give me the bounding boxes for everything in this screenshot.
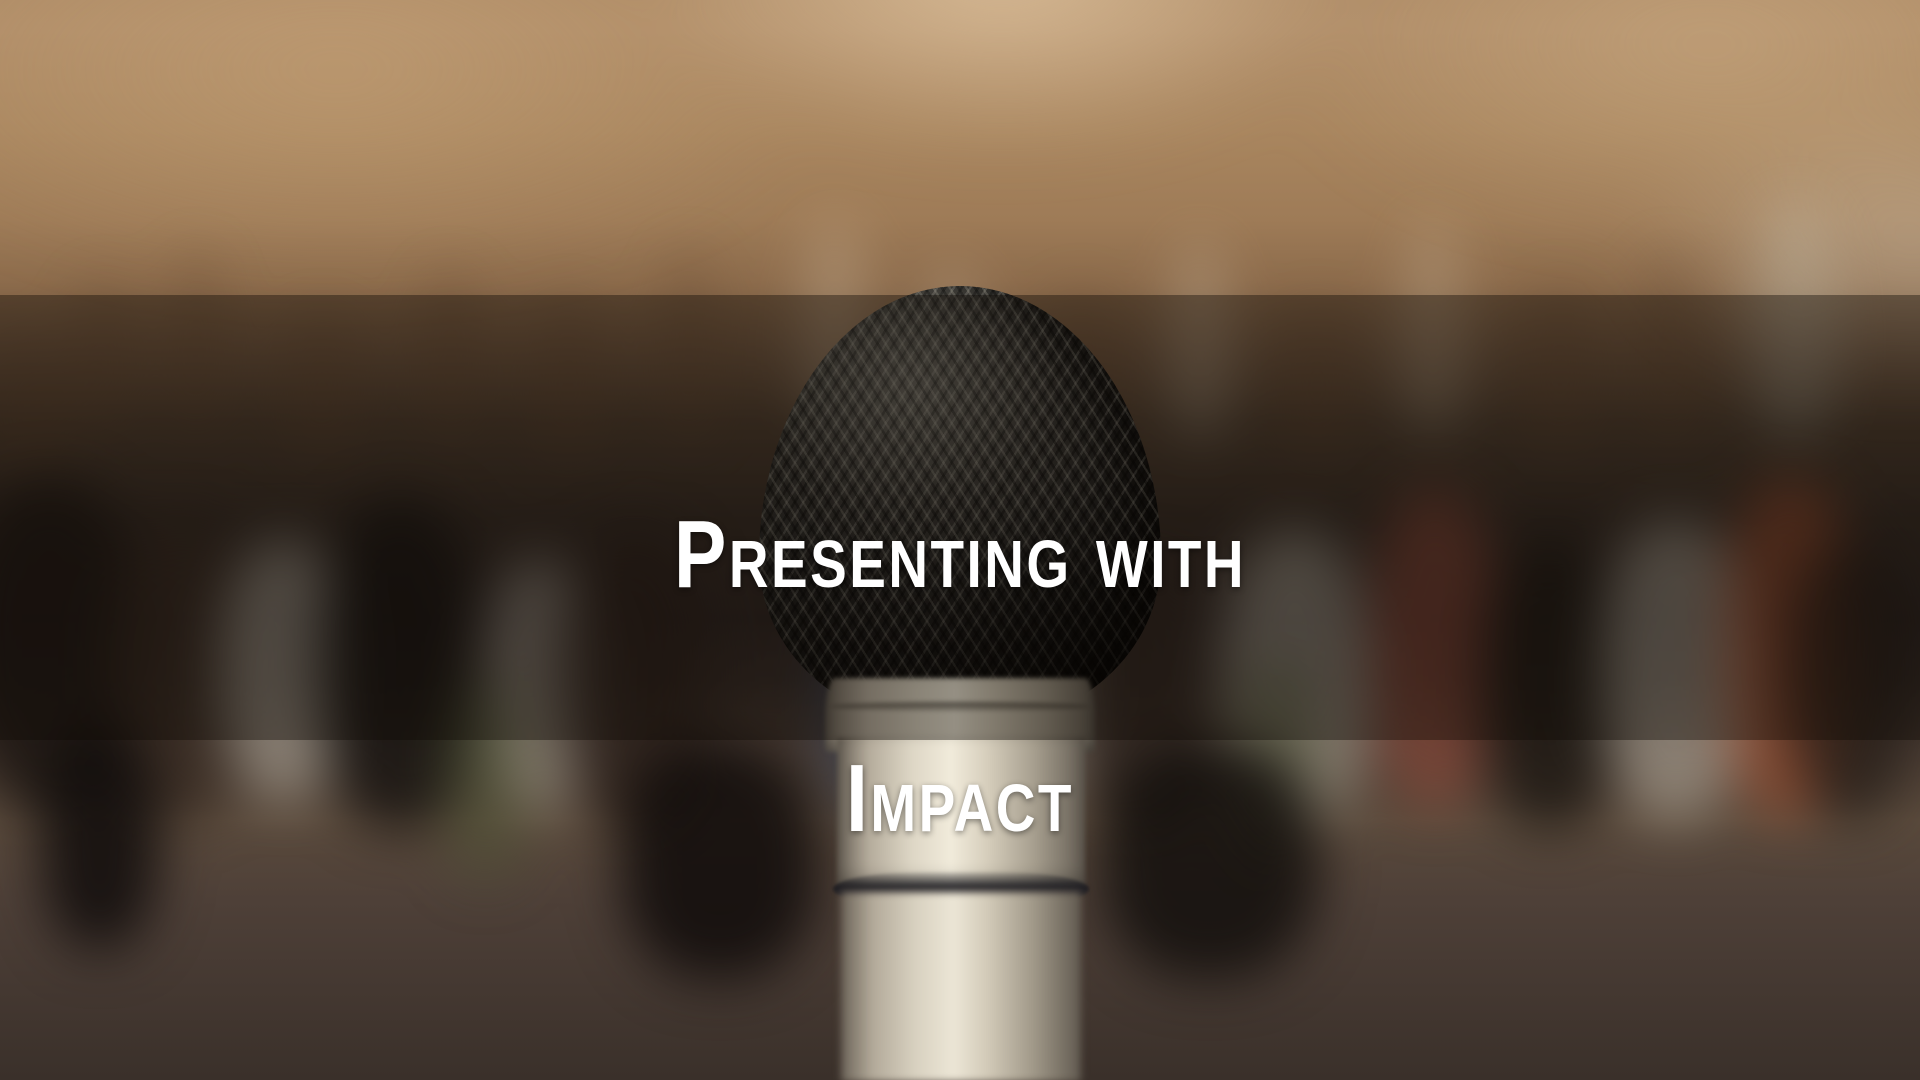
page-title: Presenting with Impact	[173, 372, 1747, 982]
page-title-line-1: Presenting with	[173, 494, 1747, 616]
title-card-image: Presenting with Impact	[0, 0, 1920, 1080]
page-title-line-2: Impact	[173, 738, 1747, 860]
